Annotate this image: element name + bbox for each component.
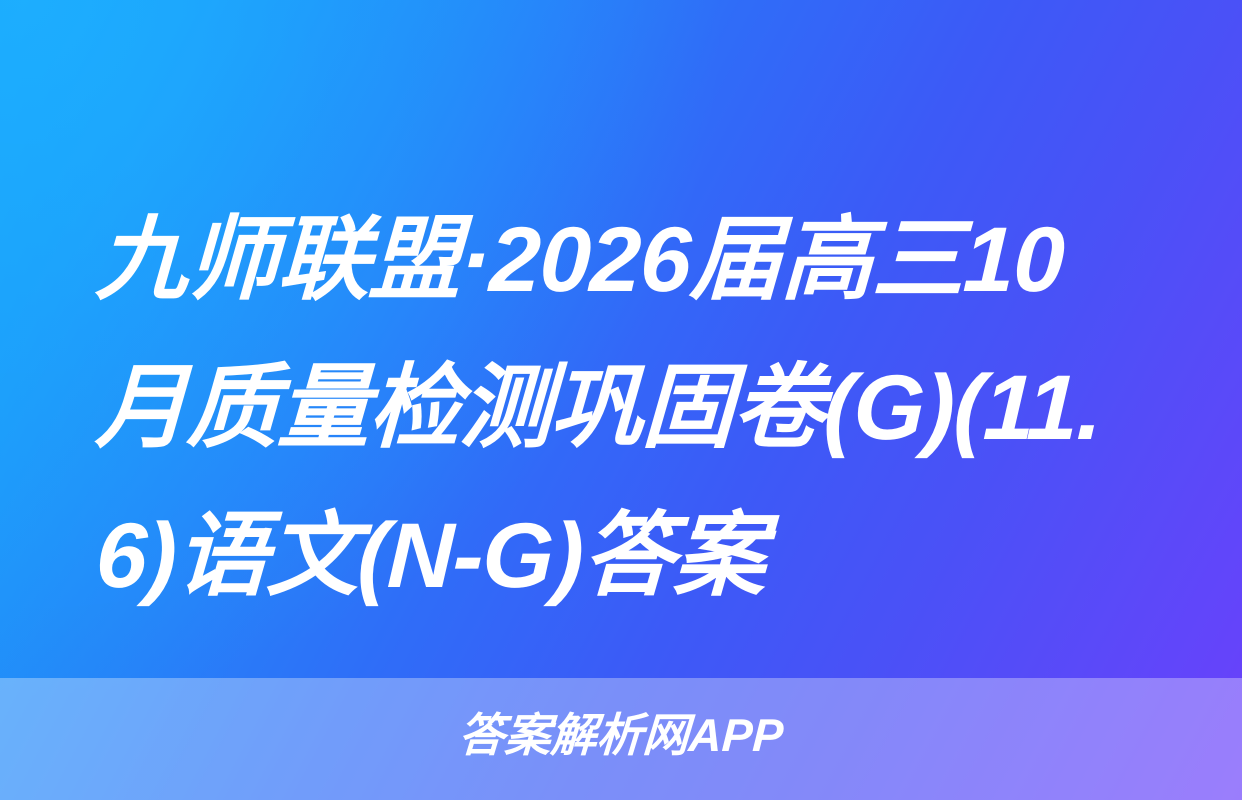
- title-line-1: 九师联盟·2026届高三10: [93, 186, 1162, 334]
- app-watermark: 答案解析网APP: [0, 706, 1242, 764]
- title-line-3: 6)语文(N-G)答案: [93, 482, 1162, 630]
- answer-cover-card: 九师联盟·2026届高三10 月质量检测巩固卷(G)(11. 6)语文(N-G)…: [0, 0, 1242, 800]
- title-line-2: 月质量检测巩固卷(G)(11.: [93, 334, 1162, 482]
- page-title: 九师联盟·2026届高三10 月质量检测巩固卷(G)(11. 6)语文(N-G)…: [96, 186, 1160, 630]
